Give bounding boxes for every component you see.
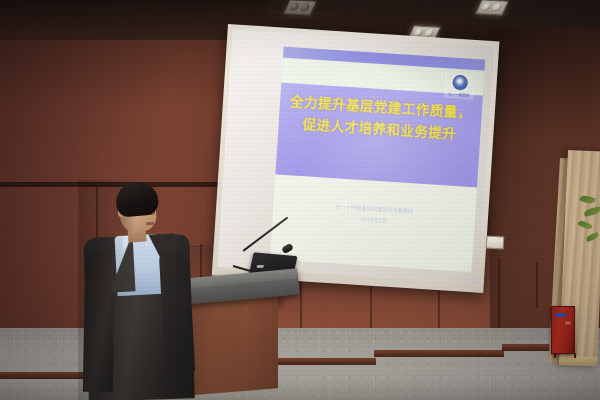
fire-cabinet-text: 消防 <box>565 321 572 325</box>
spotlight-bulb <box>299 3 310 11</box>
leaf-icon <box>585 232 599 242</box>
screen-surface: 七一一研究所 全力提升基层党建工作质量， 促进人才培养和业务提升 七一一所党委组… <box>217 29 494 283</box>
presentation-photo-scene: 七一一研究所 全力提升基层党建工作质量， 促进人才培养和业务提升 七一一所党委组… <box>0 0 600 400</box>
leaf-icon <box>577 219 592 231</box>
fire-cabinet-label-icon <box>555 313 566 317</box>
potted-plant <box>578 196 600 252</box>
projected-slide: 七一一研究所 全力提升基层党建工作质量， 促进人才培养和业务提升 七一一所党委组… <box>270 47 485 273</box>
slide-logo: 七一一研究所 <box>444 72 476 100</box>
presenter <box>78 180 198 400</box>
spotlight-bulb <box>289 2 300 10</box>
laptop-logo-icon <box>257 265 264 268</box>
organization-emblem-icon <box>452 75 468 91</box>
fire-extinguisher-cabinet: 消防 <box>551 306 575 354</box>
fire-cabinet-legs <box>554 353 576 358</box>
slide-logo-label: 七一一研究所 <box>448 91 470 97</box>
presenter-mouth <box>146 222 154 225</box>
leaf-icon <box>583 206 600 216</box>
presenter-hair <box>115 180 160 218</box>
presenter-right-arm <box>159 251 195 372</box>
wall-placard <box>486 236 505 250</box>
spotlight-bulb <box>481 2 492 10</box>
spotlight-bulb <box>491 3 502 11</box>
baseboard <box>374 350 504 357</box>
leaf-icon <box>579 194 595 205</box>
wall-panel-seam <box>536 262 538 308</box>
